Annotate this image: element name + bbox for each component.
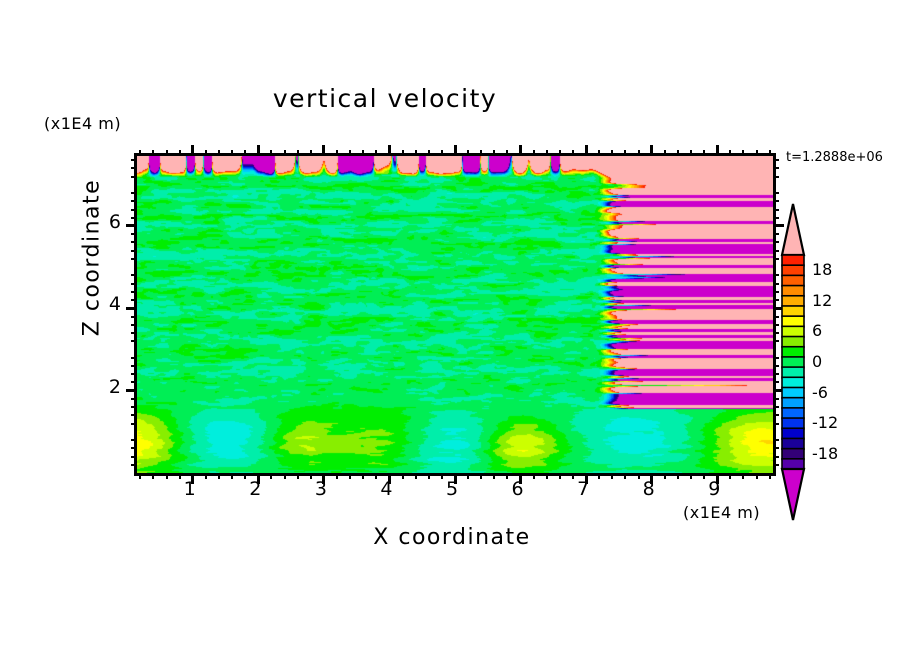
x-tick-top-minor <box>677 150 679 156</box>
y-tick-minor <box>131 283 137 285</box>
y-tick-major <box>126 389 137 392</box>
timestamp-label: t=1.2888e+06 <box>786 150 883 165</box>
colorbar-tick-label: -18 <box>812 444 838 463</box>
x-tick-top-minor <box>506 150 508 156</box>
x-tick-minor <box>598 473 600 479</box>
colorbar-tick-label: 6 <box>812 321 822 340</box>
x-tick-top-minor <box>690 150 692 156</box>
x-tick-top-minor <box>493 150 495 156</box>
colorbar <box>778 203 808 521</box>
y-tick-minor <box>131 274 137 276</box>
y-tick-minor <box>131 381 137 383</box>
colorbar-band <box>782 275 804 286</box>
x-tick-minor <box>415 473 417 479</box>
colorbar-band <box>782 296 804 307</box>
page-title: vertical velocity <box>0 84 770 113</box>
y-tick-minor <box>131 200 137 202</box>
x-tick-top-minor <box>310 150 312 156</box>
x-tick-minor <box>218 473 220 479</box>
x-tick-top-minor <box>284 150 286 156</box>
x-tick-minor <box>205 473 207 479</box>
x-tick-top-minor <box>244 150 246 156</box>
x-tick-top-minor <box>402 150 404 156</box>
x-tick-label: 5 <box>437 478 467 500</box>
x-tick-minor <box>270 473 272 479</box>
x-tick-top-minor <box>559 150 561 156</box>
x-tick-minor <box>533 473 535 479</box>
y-tick-right-minor <box>773 176 779 178</box>
x-tick-top-major <box>322 145 325 156</box>
colorbar-band <box>782 387 804 398</box>
x-tick-top-minor <box>467 150 469 156</box>
x-tick-top-major <box>716 145 719 156</box>
y-tick-minor <box>131 332 137 334</box>
x-tick-top-minor <box>218 150 220 156</box>
x-tick-label: 2 <box>240 478 270 500</box>
x-tick-minor <box>664 473 666 479</box>
x-tick-top-minor <box>598 150 600 156</box>
y-tick-major <box>126 307 137 310</box>
x-tick-minor <box>428 473 430 479</box>
y-tick-right-minor <box>773 167 779 169</box>
x-tick-minor <box>546 473 548 479</box>
x-tick-minor <box>297 473 299 479</box>
x-tick-minor <box>559 473 561 479</box>
y-tick-minor <box>131 217 137 219</box>
x-tick-minor <box>729 473 731 479</box>
y-tick-minor <box>131 414 137 416</box>
y-tick-right-minor <box>773 200 779 202</box>
colorbar-tick-label: 12 <box>812 291 832 310</box>
y-tick-minor <box>131 299 137 301</box>
x-tick-top-minor <box>205 150 207 156</box>
x-tick-top-minor <box>572 150 574 156</box>
y-tick-label: 4 <box>97 293 121 315</box>
y-tick-minor <box>131 159 137 161</box>
x-tick-top-minor <box>349 150 351 156</box>
x-tick-minor <box>493 473 495 479</box>
x-tick-top-minor <box>546 150 548 156</box>
x-tick-minor <box>231 473 233 479</box>
x-tick-top-minor <box>179 150 181 156</box>
x-tick-top-minor <box>139 150 141 156</box>
y-tick-right-minor <box>773 159 779 161</box>
y-tick-minor <box>131 464 137 466</box>
colorbar-band <box>782 418 804 429</box>
y-tick-minor <box>131 406 137 408</box>
x-tick-top-major <box>519 145 522 156</box>
x-tick-top-minor <box>166 150 168 156</box>
x-tick-top-minor <box>415 150 417 156</box>
colorbar-tick-label: -6 <box>812 383 828 402</box>
y-tick-minor <box>131 447 137 449</box>
y-axis-unit-label: (x1E4 m) <box>44 114 121 133</box>
x-tick-top-minor <box>742 150 744 156</box>
colorbar-band <box>782 367 804 378</box>
contour-field-canvas <box>137 156 773 473</box>
contour-plot-area <box>134 153 776 476</box>
x-tick-label: 8 <box>634 478 664 500</box>
y-tick-minor <box>131 357 137 359</box>
x-tick-label: 9 <box>699 478 729 500</box>
x-tick-top-major <box>585 145 588 156</box>
y-tick-minor <box>131 340 137 342</box>
colorbar-tick-label: 18 <box>812 260 832 279</box>
x-tick-minor <box>756 473 758 479</box>
x-tick-top-minor <box>231 150 233 156</box>
y-tick-right-minor <box>773 192 779 194</box>
y-tick-label: 2 <box>97 376 121 398</box>
colorbar-band <box>782 255 804 266</box>
x-tick-minor <box>677 473 679 479</box>
x-tick-minor <box>480 473 482 479</box>
colorbar-band <box>782 316 804 327</box>
x-tick-top-minor <box>533 150 535 156</box>
x-tick-label: 1 <box>175 478 205 500</box>
y-tick-label: 6 <box>97 211 121 233</box>
colorbar-band <box>782 326 804 337</box>
colorbar-tick-label: -12 <box>812 413 838 432</box>
x-tick-top-minor <box>297 150 299 156</box>
x-axis-title: X coordinate <box>134 525 770 550</box>
y-tick-minor <box>131 398 137 400</box>
colorbar-band <box>782 347 804 358</box>
x-tick-minor <box>690 473 692 479</box>
colorbar-band <box>782 408 804 419</box>
x-tick-minor <box>152 473 154 479</box>
y-tick-minor <box>131 176 137 178</box>
colorbar-band <box>782 398 804 409</box>
y-tick-minor <box>131 291 137 293</box>
x-tick-label: 7 <box>568 478 598 500</box>
x-tick-top-minor <box>428 150 430 156</box>
colorbar-band <box>782 428 804 439</box>
x-tick-minor <box>624 473 626 479</box>
x-tick-minor <box>139 473 141 479</box>
x-tick-minor <box>611 473 613 479</box>
y-tick-minor <box>131 423 137 425</box>
x-tick-top-minor <box>375 150 377 156</box>
y-tick-minor <box>131 316 137 318</box>
x-tick-label: 6 <box>503 478 533 500</box>
x-tick-minor <box>769 473 771 479</box>
x-tick-minor <box>349 473 351 479</box>
x-tick-label: 4 <box>371 478 401 500</box>
colorbar-swatches <box>778 203 808 521</box>
x-tick-top-minor <box>336 150 338 156</box>
y-tick-minor <box>131 456 137 458</box>
x-tick-minor <box>467 473 469 479</box>
x-tick-top-major <box>388 145 391 156</box>
x-tick-top-minor <box>729 150 731 156</box>
x-tick-top-minor <box>611 150 613 156</box>
colorbar-band <box>782 357 804 368</box>
x-tick-minor <box>284 473 286 479</box>
x-tick-minor <box>402 473 404 479</box>
colorbar-band <box>782 286 804 297</box>
x-tick-top-minor <box>624 150 626 156</box>
x-axis-unit-label: (x1E4 m) <box>683 503 760 522</box>
x-tick-top-minor <box>664 150 666 156</box>
y-tick-minor <box>131 373 137 375</box>
colorbar-band <box>782 449 804 460</box>
x-tick-top-major <box>454 145 457 156</box>
colorbar-band <box>782 265 804 276</box>
y-tick-major <box>126 224 137 227</box>
x-tick-label: 3 <box>306 478 336 500</box>
y-tick-minor <box>131 209 137 211</box>
y-tick-minor <box>131 439 137 441</box>
x-tick-top-minor <box>480 150 482 156</box>
x-tick-top-minor <box>441 150 443 156</box>
x-tick-top-minor <box>756 150 758 156</box>
colorbar-band <box>782 377 804 388</box>
x-tick-top-minor <box>769 150 771 156</box>
y-tick-minor <box>131 324 137 326</box>
x-tick-top-minor <box>638 150 640 156</box>
colorbar-band <box>782 438 804 449</box>
colorbar-under-arrow <box>782 469 804 520</box>
x-tick-minor <box>362 473 364 479</box>
x-tick-top-major <box>257 145 260 156</box>
x-tick-top-major <box>650 145 653 156</box>
y-tick-minor <box>131 365 137 367</box>
colorbar-band <box>782 306 804 317</box>
y-tick-minor <box>131 241 137 243</box>
y-tick-minor <box>131 192 137 194</box>
colorbar-over-arrow <box>782 204 804 255</box>
y-axis-title: Z coordinate <box>80 148 105 368</box>
x-tick-top-minor <box>703 150 705 156</box>
y-tick-minor <box>131 233 137 235</box>
y-tick-minor <box>131 167 137 169</box>
x-tick-top-minor <box>362 150 364 156</box>
x-tick-top-minor <box>152 150 154 156</box>
y-tick-minor <box>131 250 137 252</box>
y-tick-minor <box>131 258 137 260</box>
x-tick-minor <box>742 473 744 479</box>
colorbar-band <box>782 337 804 348</box>
x-tick-minor <box>336 473 338 479</box>
colorbar-tick-label: 0 <box>812 352 822 371</box>
x-tick-minor <box>166 473 168 479</box>
x-tick-top-minor <box>270 150 272 156</box>
x-tick-top-major <box>191 145 194 156</box>
